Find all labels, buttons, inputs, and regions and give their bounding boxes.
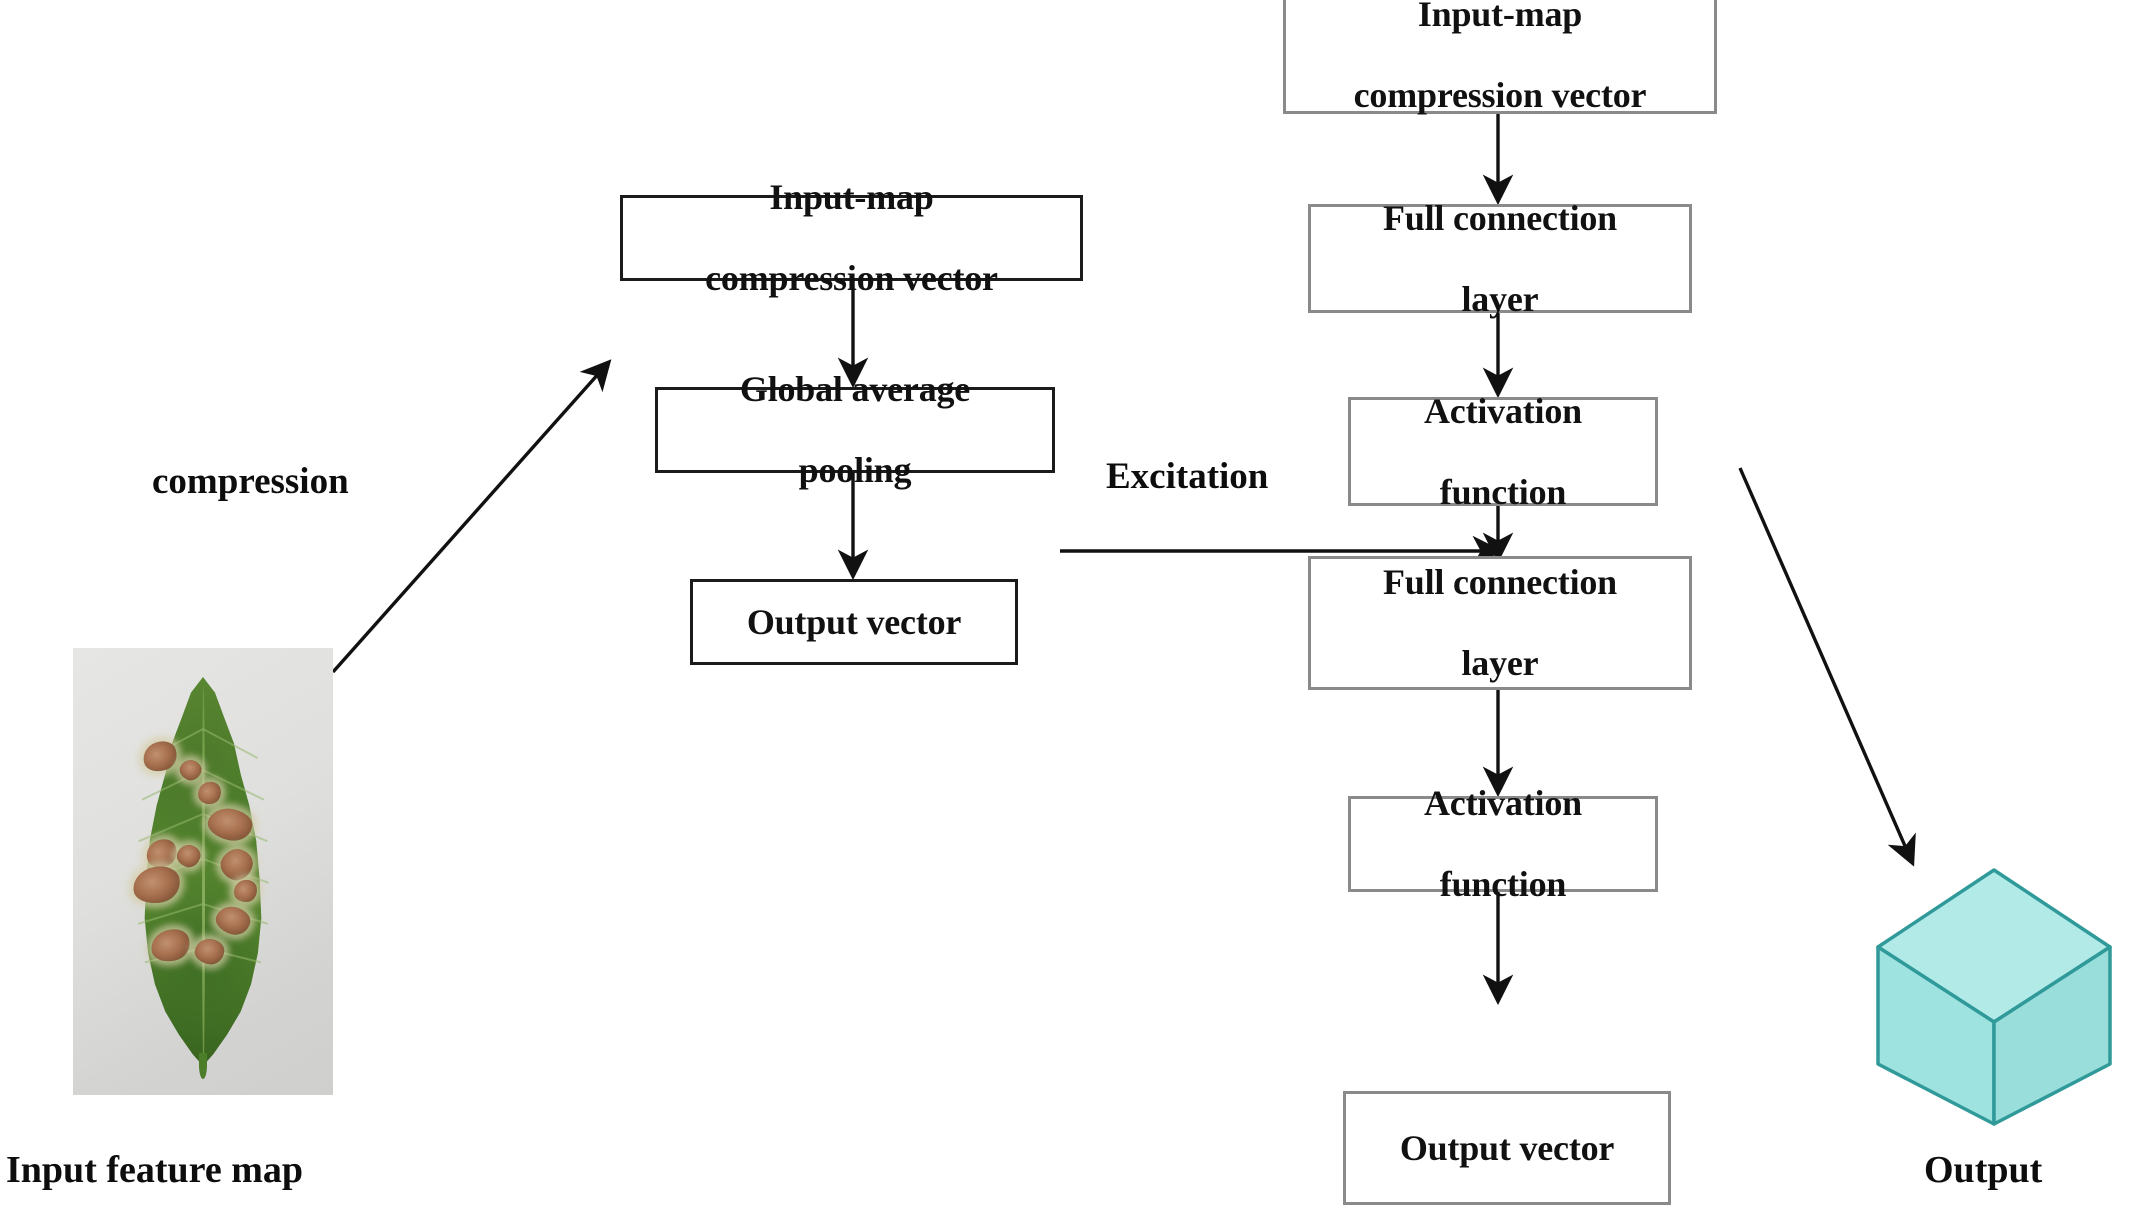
line-1: Input-map: [699, 177, 1004, 218]
line-1: Full connection: [1377, 198, 1623, 239]
line-2: compression vector: [699, 258, 1004, 299]
line-2: compression vector: [1348, 75, 1653, 116]
arrow-output: [1740, 468, 1912, 862]
box-full-connection-layer-2-text: Full connection layer: [1371, 562, 1629, 684]
box-squeeze-input-map-text: Input-map compression vector: [693, 177, 1010, 299]
line-2: function: [1418, 472, 1588, 513]
box-squeeze-output-vector[interactable]: Output vector: [690, 579, 1018, 665]
line-1: Full connection: [1377, 562, 1623, 603]
leaf-petiole: [199, 1053, 207, 1080]
box-excite-input-map-text: Input-map compression vector: [1342, 0, 1659, 116]
line-1: Activation: [1418, 391, 1588, 432]
line-2: pooling: [734, 450, 976, 491]
line-2: function: [1418, 864, 1588, 905]
output-caption: Output: [1924, 1148, 2042, 1192]
box-full-connection-layer-2[interactable]: Full connection layer: [1308, 556, 1692, 690]
box-activation-function-2[interactable]: Activation function: [1348, 796, 1658, 892]
box-activation-function-2-text: Activation function: [1412, 783, 1594, 905]
line-1: Activation: [1418, 783, 1588, 824]
box-squeeze-input-map[interactable]: Input-map compression vector: [620, 195, 1083, 281]
line-2: layer: [1377, 643, 1623, 684]
diagram-canvas: Input feature map compression Input-map …: [0, 0, 2135, 1230]
box-excite-input-map[interactable]: Input-map compression vector: [1283, 0, 1717, 114]
line-2: layer: [1377, 279, 1623, 320]
box-full-connection-layer-1-text: Full connection layer: [1371, 198, 1629, 320]
compression-label: compression: [152, 460, 349, 503]
input-feature-map-caption: Input feature map: [6, 1148, 303, 1192]
leaf-midrib: [202, 688, 205, 1063]
box-squeeze-output-vector-text: Output vector: [741, 602, 967, 643]
box-excite-output-vector[interactable]: Output vector: [1343, 1091, 1671, 1205]
arrow-compression: [333, 363, 608, 672]
box-full-connection-layer-1[interactable]: Full connection layer: [1308, 204, 1692, 313]
box-global-average-pooling-text: Global average pooling: [728, 369, 982, 491]
box-excite-output-vector-text: Output vector: [1394, 1128, 1620, 1169]
line-1: Input-map: [1348, 0, 1653, 35]
excitation-label: Excitation: [1106, 455, 1268, 498]
box-global-average-pooling[interactable]: Global average pooling: [655, 387, 1055, 473]
output-cube: [1858, 852, 2130, 1142]
line-1: Global average: [734, 369, 976, 410]
box-activation-function-1[interactable]: Activation function: [1348, 397, 1658, 506]
box-activation-function-1-text: Activation function: [1412, 391, 1594, 513]
input-feature-map-image: [73, 648, 333, 1095]
